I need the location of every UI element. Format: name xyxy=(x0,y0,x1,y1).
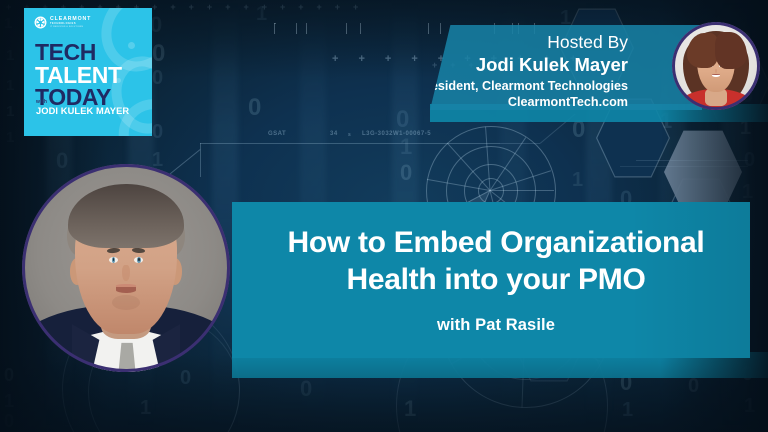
equipment-code: L3G-3032W1-00067-5 xyxy=(362,131,431,137)
equipment-code: GSAT xyxy=(268,131,286,137)
binary-digit: 1 xyxy=(256,4,267,24)
binary-digit: 1 xyxy=(740,118,751,138)
hosted-by-eyebrow: Hosted By xyxy=(396,32,628,53)
binary-digit: 0 xyxy=(4,366,14,384)
binary-digit: 1 xyxy=(6,78,14,93)
speaker-avatar-ring xyxy=(22,164,230,372)
binary-digit: 1 xyxy=(744,396,755,416)
host-name: Jodi Kulek Mayer xyxy=(396,54,628,76)
binary-digit: 0 xyxy=(152,42,165,66)
binary-digit: 1 xyxy=(6,104,14,119)
binary-digit: 0 xyxy=(152,68,163,88)
cover-title-line-1: TECH xyxy=(35,41,122,64)
binary-digit: 0 xyxy=(620,372,632,394)
equipment-code: s xyxy=(348,132,351,138)
binary-digit: 1 xyxy=(4,16,12,31)
binary-digit: 1 xyxy=(6,130,14,145)
binary-digit: 1 xyxy=(660,110,672,132)
host-website[interactable]: ClearmontTech.com xyxy=(396,95,628,111)
cover-title-line-2: TALENT xyxy=(35,64,122,87)
binary-digit: 0 xyxy=(744,150,755,170)
host-role: President, Clearmont Technologies xyxy=(396,79,628,95)
binary-digit: 1 xyxy=(6,48,14,63)
binary-digit: 0 xyxy=(300,378,312,400)
logo-tagline: IT SERVICES & SOLUTIONS xyxy=(50,26,91,28)
binary-digit: 1 xyxy=(4,392,14,410)
binary-digit: 0 xyxy=(4,412,14,430)
cover-with-label: with xyxy=(36,99,129,105)
binary-digit: 0 xyxy=(56,150,68,172)
binary-digit: 0 xyxy=(742,364,753,384)
cover-host-name: JODI KULEK MAYER xyxy=(36,106,129,116)
episode-guest: with Pat Rasile xyxy=(437,316,555,335)
binary-digit: 0 xyxy=(152,122,163,142)
binary-digit: 1 xyxy=(140,398,151,418)
episode-title: How to Embed Organizational Health into … xyxy=(268,225,724,298)
clearmont-logo-text: CLEARMONT TECHNOLOGIES IT SERVICES & SOL… xyxy=(50,17,91,29)
cover-dot-1 xyxy=(128,42,135,49)
binary-digit: 1 xyxy=(622,400,633,420)
binary-digit: 0 xyxy=(400,162,412,184)
cover-host-credit: with JODI KULEK MAYER xyxy=(36,99,129,116)
hosted-by-panel: Hosted By Jodi Kulek Mayer President, Cl… xyxy=(430,25,702,110)
clearmont-starburst-icon xyxy=(34,16,47,29)
binary-digit: 0 xyxy=(688,376,699,396)
hosted-by-text-block: Hosted By Jodi Kulek Mayer President, Cl… xyxy=(396,32,628,111)
clearmont-logo: CLEARMONT TECHNOLOGIES IT SERVICES & SOL… xyxy=(34,16,91,29)
binary-digit: 0 xyxy=(628,148,640,170)
binary-digit: 1 xyxy=(400,136,412,158)
podcast-cover-card[interactable]: CLEARMONT TECHNOLOGIES IT SERVICES & SOL… xyxy=(24,8,152,136)
binary-digit: 1 xyxy=(742,182,753,202)
binary-digit: 0 xyxy=(180,368,191,388)
binary-digit: 0 xyxy=(572,118,585,142)
binary-digit: 0 xyxy=(248,96,261,120)
podcast-episode-graphic: 1010110101010000100010010100110010101010… xyxy=(0,0,768,432)
host-avatar-ring xyxy=(672,22,760,110)
equipment-code: 34 xyxy=(330,131,338,137)
binary-digit: 0 xyxy=(396,108,409,132)
binary-digit: 1 xyxy=(404,398,416,420)
episode-title-banner: How to Embed Organizational Health into … xyxy=(232,202,750,358)
binary-digit: 1 xyxy=(572,170,583,190)
logo-sub: TECHNOLOGIES xyxy=(50,23,91,26)
